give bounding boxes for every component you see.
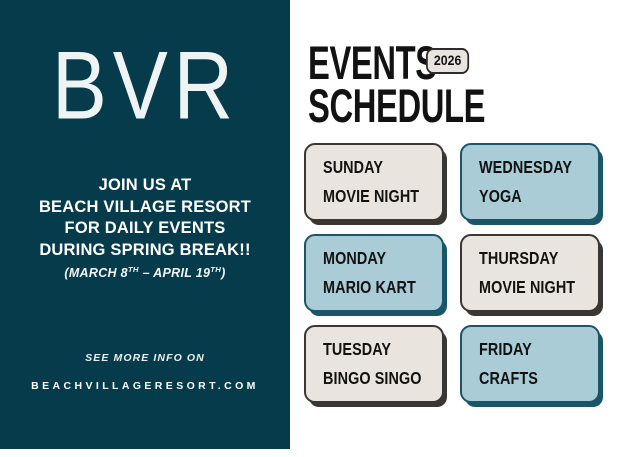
- event-card-friday[interactable]: FRIDAY CRAFTS: [460, 325, 600, 403]
- event-card-activity: MARIO KART: [323, 279, 430, 297]
- event-card-activity: CRAFTS: [479, 370, 586, 388]
- invitation-line-3: FOR DAILY EVENTS: [10, 218, 280, 240]
- invitation-line-1: JOIN US AT: [10, 175, 280, 197]
- date-range: (MARCH 8TH – APRIL 19TH): [10, 265, 280, 281]
- date-middle: – APRIL 19: [139, 266, 210, 280]
- event-schedule-poster: BVR JOIN US AT BEACH VILLAGE RESORT FOR …: [0, 0, 640, 457]
- title-line-schedule: SCHEDULE: [308, 85, 558, 128]
- brand-logo-text: BVR: [51, 32, 238, 140]
- invitation-line-4: DURING SPRING BREAK!!: [10, 240, 280, 262]
- invitation-line-2: BEACH VILLAGE RESORT: [10, 197, 280, 219]
- date-ordinal-start: TH: [128, 265, 139, 274]
- event-card-day: WEDNESDAY: [479, 159, 586, 177]
- schedule-title: EVENTS 2026 SCHEDULE: [308, 42, 628, 123]
- date-ordinal-end: TH: [210, 265, 221, 274]
- event-card-tuesday[interactable]: TUESDAY BINGO SINGO: [304, 325, 444, 403]
- event-card-day: THURSDAY: [479, 250, 586, 268]
- event-card-day: TUESDAY: [323, 341, 430, 359]
- event-card-monday[interactable]: MONDAY MARIO KART: [304, 234, 444, 312]
- brand-panel: BVR JOIN US AT BEACH VILLAGE RESORT FOR …: [0, 0, 290, 449]
- website-link[interactable]: BEACHVILLAGERESORT.COM: [10, 380, 280, 392]
- event-card-day: MONDAY: [323, 250, 430, 268]
- event-card-day: FRIDAY: [479, 341, 586, 359]
- year-badge: 2026: [426, 48, 469, 74]
- see-more-info-label: SEE MORE INFO ON: [10, 352, 280, 364]
- event-cards-grid: SUNDAY MOVIE NIGHT WEDNESDAY YOGA MONDAY…: [304, 143, 614, 403]
- schedule-title-row-1: EVENTS 2026: [308, 42, 628, 80]
- event-card-activity: MOVIE NIGHT: [323, 188, 430, 206]
- date-suffix: ): [221, 266, 225, 280]
- event-card-activity: YOGA: [479, 188, 586, 206]
- footer-block: SEE MORE INFO ON BEACHVILLAGERESORT.COM: [10, 352, 280, 392]
- event-card-wednesday[interactable]: WEDNESDAY YOGA: [460, 143, 600, 221]
- brand-logo: BVR: [0, 38, 290, 134]
- event-card-sunday[interactable]: SUNDAY MOVIE NIGHT: [304, 143, 444, 221]
- title-line-events: EVENTS: [308, 42, 437, 85]
- schedule-panel: EVENTS 2026 SCHEDULE SUNDAY MOVIE NIGHT …: [290, 0, 640, 457]
- date-prefix: (MARCH 8: [64, 266, 128, 280]
- invitation-block: JOIN US AT BEACH VILLAGE RESORT FOR DAIL…: [10, 175, 280, 281]
- event-card-day: SUNDAY: [323, 159, 430, 177]
- event-card-activity: BINGO SINGO: [323, 370, 430, 388]
- event-card-activity: MOVIE NIGHT: [479, 279, 586, 297]
- event-card-thursday[interactable]: THURSDAY MOVIE NIGHT: [460, 234, 600, 312]
